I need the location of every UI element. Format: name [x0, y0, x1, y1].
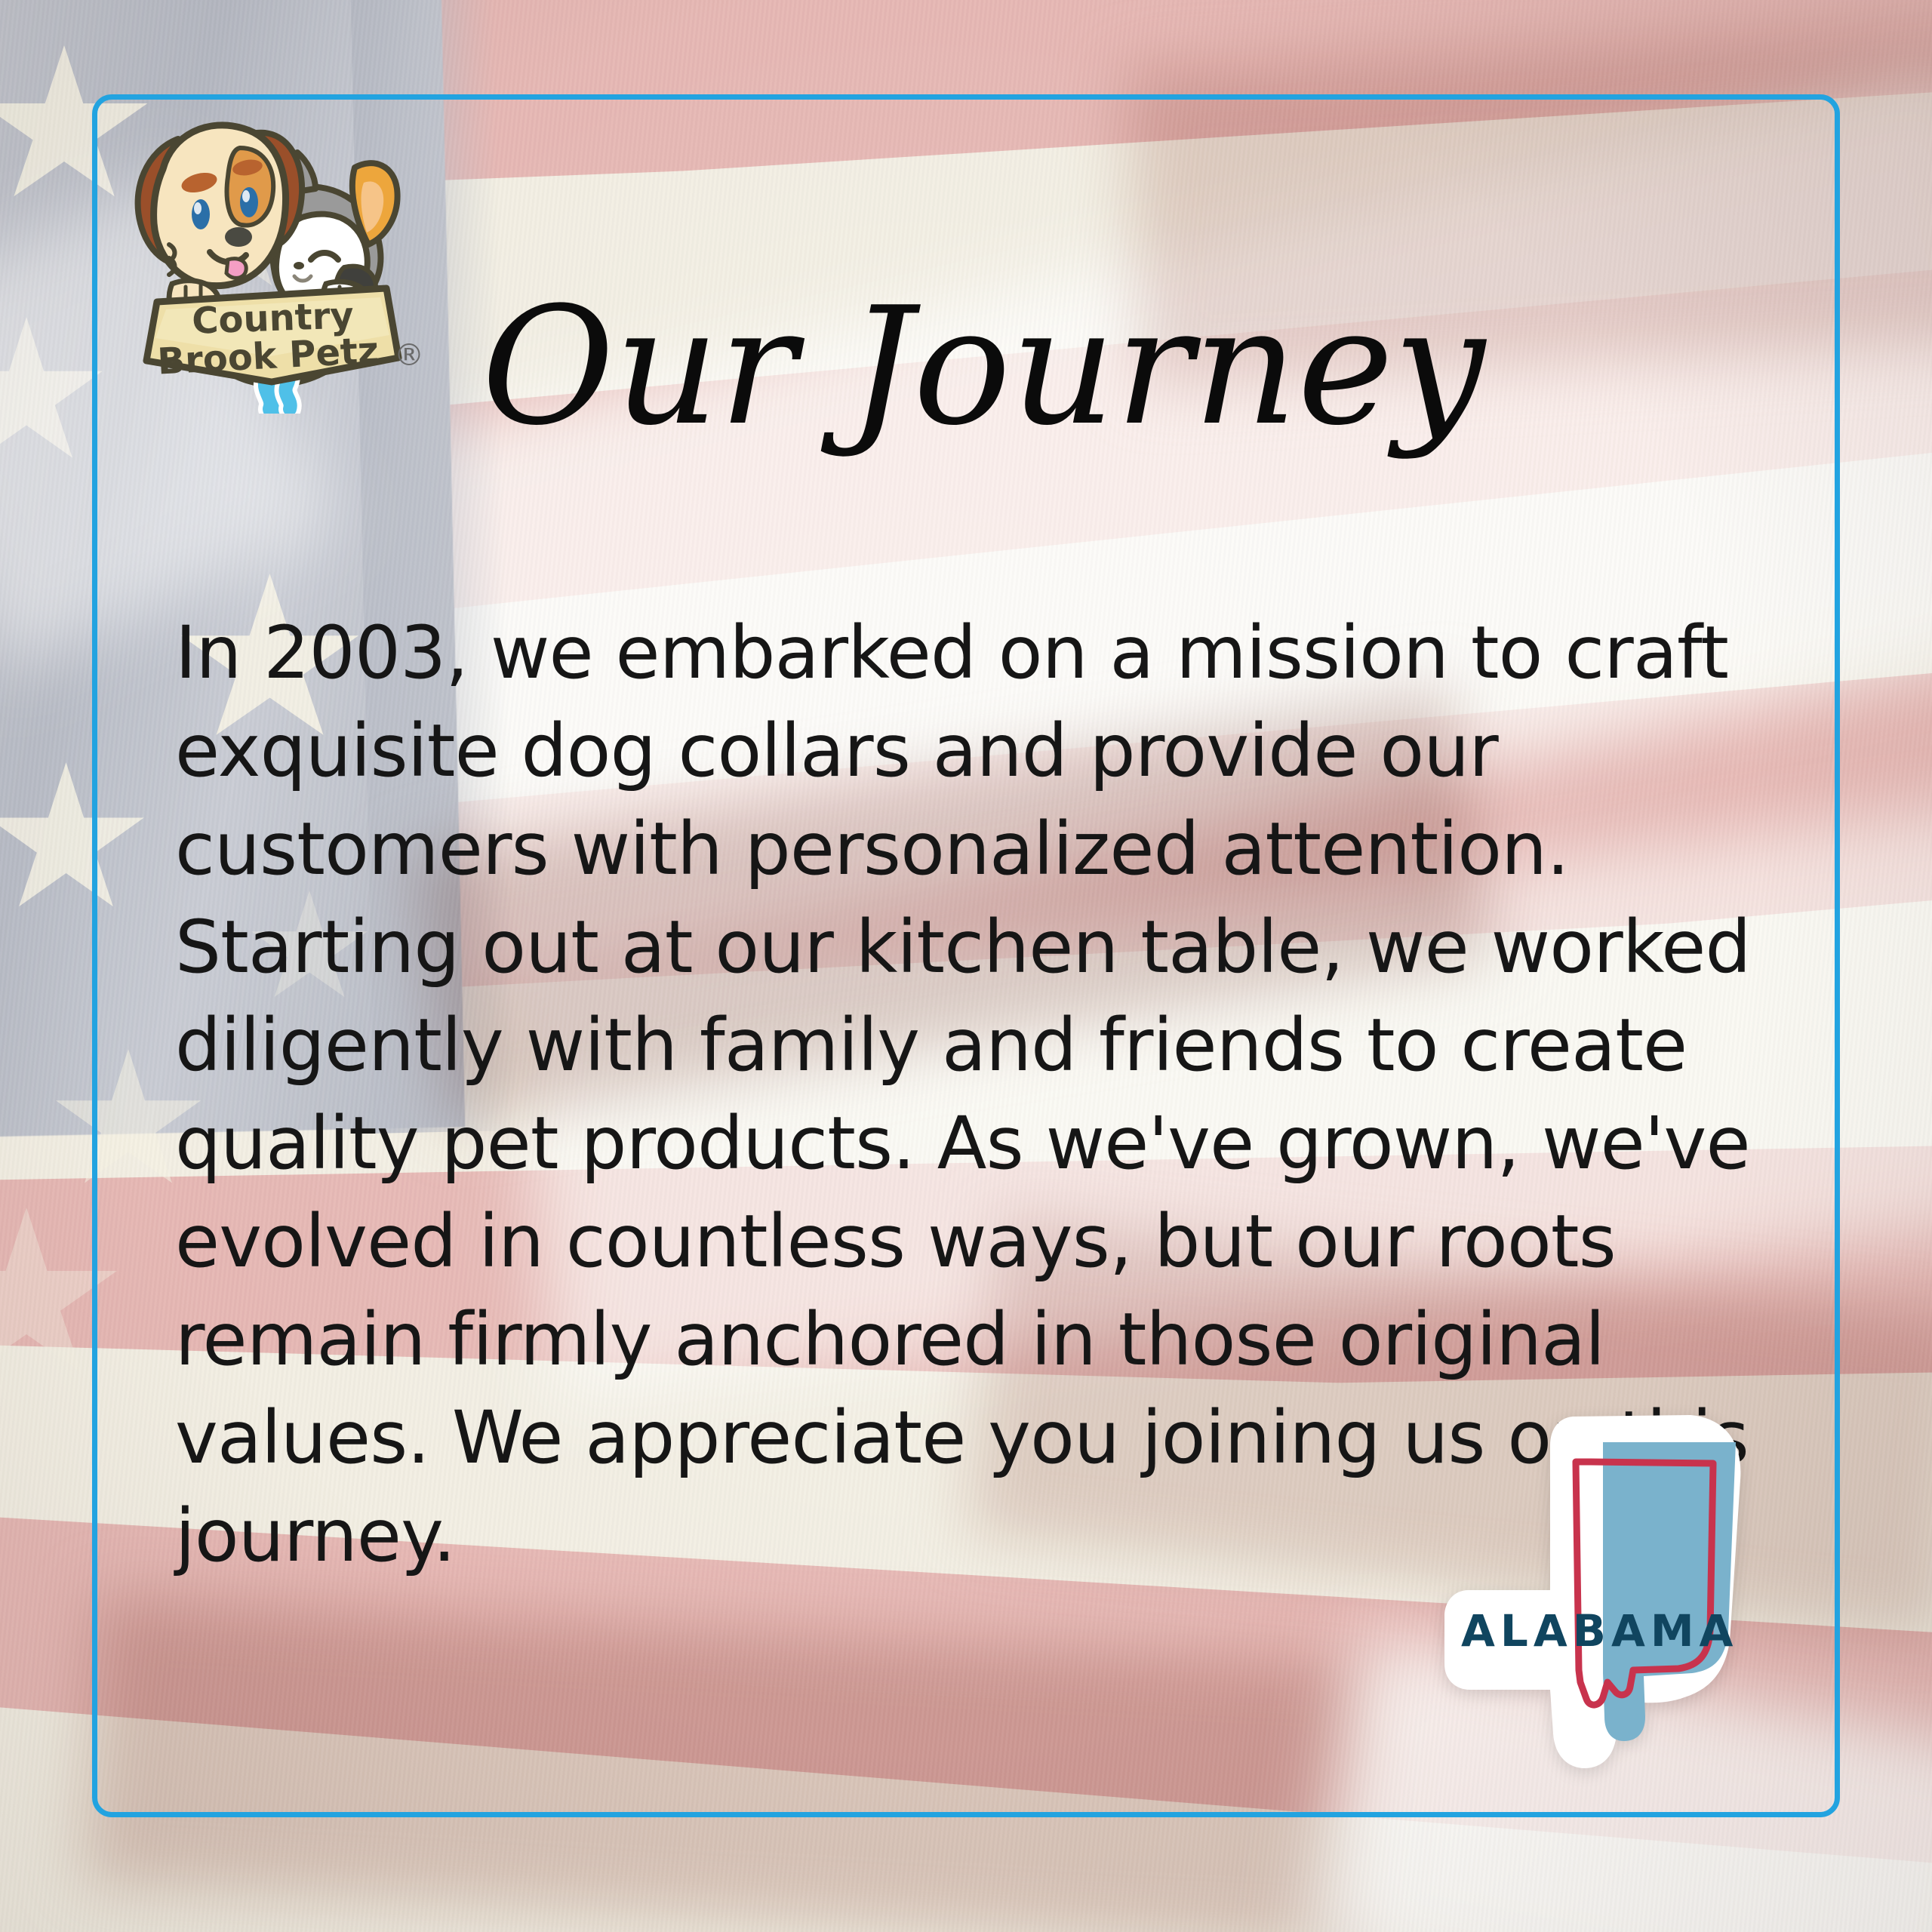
- alabama-state-sticker: ALABAMA: [1425, 1392, 1825, 1785]
- page-title-text: Our Journey: [481, 272, 1487, 461]
- brand-logo[interactable]: Country Brook Petz ®: [113, 104, 430, 414]
- page-title: Our Journey: [474, 249, 1606, 498]
- poster-canvas: Country Brook Petz ® Our Journey In 2003…: [0, 0, 1932, 1932]
- logo-registered-mark: ®: [394, 338, 424, 373]
- sticker-label-text: ALABAMA: [1461, 1605, 1738, 1657]
